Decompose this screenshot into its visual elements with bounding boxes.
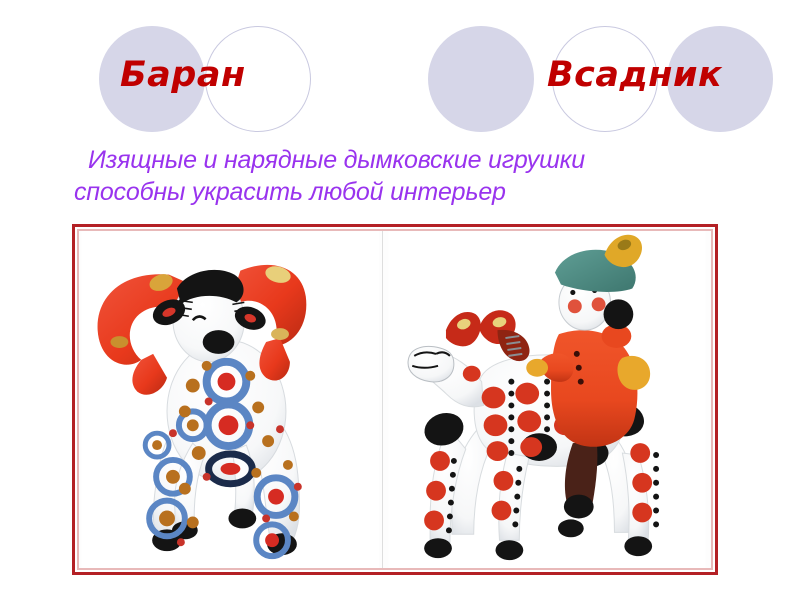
photo-ram [79,231,382,568]
ram-horn-gold-3 [111,336,129,348]
lead-line-2: способны украсить любой интерьер [74,176,754,208]
horse-hoof-4 [624,536,652,556]
picture-frame [72,224,718,575]
rider-glove-left [526,359,548,377]
rider-cheek-right [592,297,606,311]
lead-line-1: Изящные и нарядные дымковские игрушки [74,144,754,176]
horseman-figurine-illustration [383,231,711,568]
ram-hoof-2 [228,509,256,529]
rider-hair-pompom [603,299,633,329]
horse-hoof-3 [558,519,584,537]
picture-frame-inner [77,229,713,570]
title-vsadnik: Всадник [547,58,722,93]
ram-horn-gold-4 [271,328,289,340]
ram-figurine-illustration [79,231,382,568]
rider-cheek-left [568,299,582,313]
decorative-circle-band: Баран Всадник [0,0,800,140]
decor-circle-filled-2 [428,26,534,132]
horse-hoof-1 [424,538,452,558]
rider-eye-left [570,290,575,295]
rider-boot [564,495,594,519]
ram-muzzle [203,330,235,354]
title-baran: Баран [120,58,246,93]
lead-paragraph: Изящные и нарядные дымковские игрушки сп… [74,144,754,208]
horse-hoof-2 [495,540,523,560]
photo-horseman [382,231,711,568]
photo-pair [79,231,711,568]
